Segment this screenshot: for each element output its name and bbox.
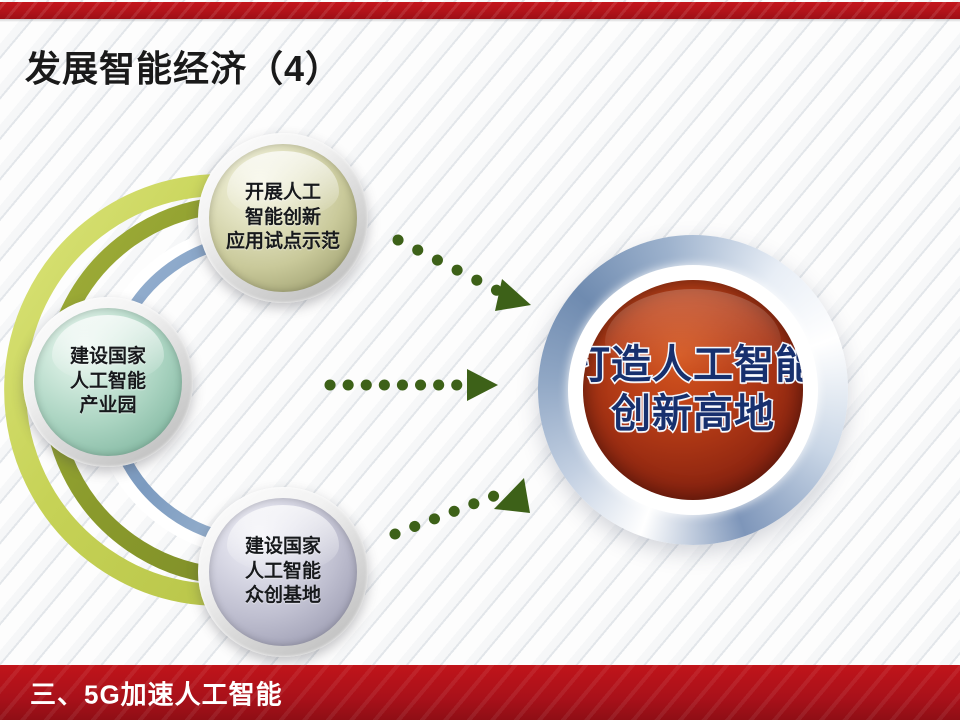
arrow-middle-head [467,369,498,401]
hub-label-line-1: 打造人工智能 [583,343,803,388]
hub-sphere[interactable]: 打造人工智能 创新高地 [538,235,848,545]
arrow-top-dots [398,240,500,292]
arrow-bottom [395,478,530,534]
arrow-bottom-head [494,478,530,513]
hub-label-line-2: 创新高地 [611,392,775,437]
node-base-label: 建设国家 人工智能 众创基地 [245,535,321,609]
arrow-bottom-dots [395,496,494,534]
bottom-section-bar: 三、5G加速人工智能 [0,665,960,720]
node-park-label: 建设国家 人工智能 产业园 [70,345,146,419]
section-heading: 三、5G加速人工智能 [30,674,283,711]
arrow-top-head [495,279,531,311]
hub-core: 打造人工智能 创新高地 [583,280,803,500]
arrow-middle [330,369,498,401]
arrow-top [398,240,531,311]
slide-canvas: 发展智能经济（4） [0,0,960,720]
node-pilot-label: 开展人工 智能创新 应用试点示范 [226,181,340,255]
diagram-area: 开展人工 智能创新 应用试点示范 建设国家 人工智能 产业园 建设国家 人工智能… [0,0,960,720]
